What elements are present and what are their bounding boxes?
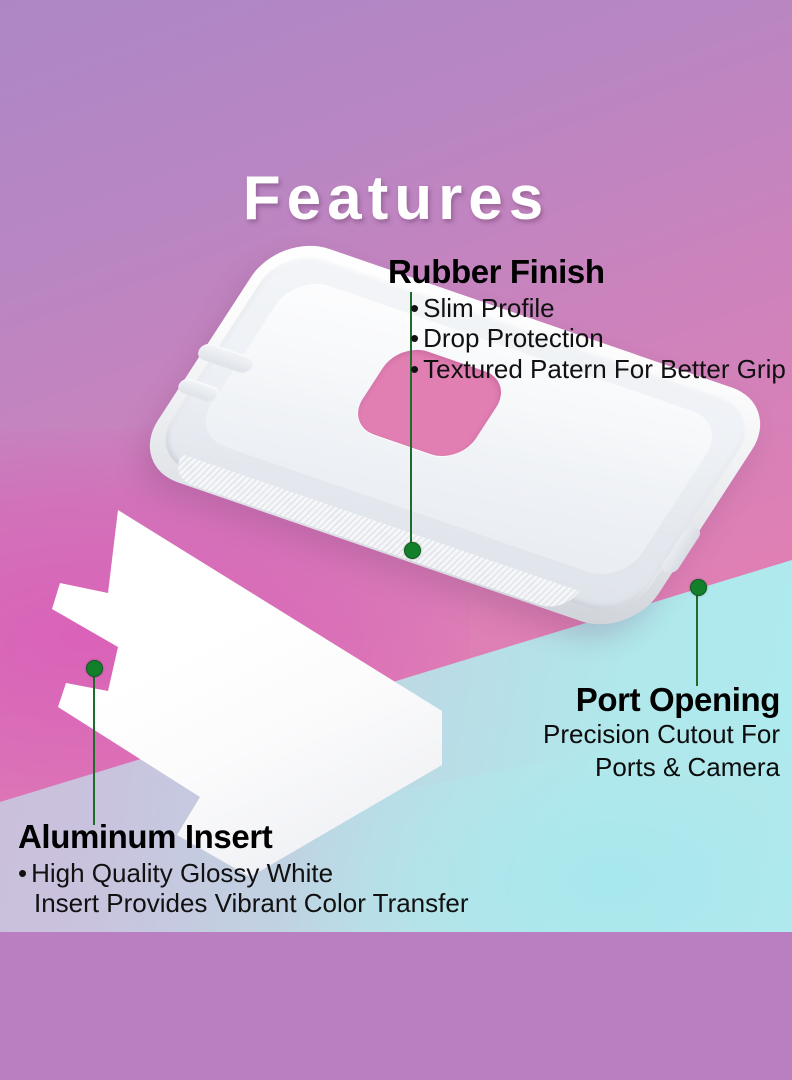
bullet-glyph: • bbox=[410, 293, 419, 323]
list-item-label: Drop Protection bbox=[423, 323, 604, 353]
bullet-glyph: • bbox=[18, 858, 27, 888]
callout-heading-port-opening: Port Opening bbox=[452, 683, 780, 716]
callout-list-rubber-finish: •Slim Profile •Drop Protection •Textured… bbox=[410, 293, 786, 384]
callout-heading-rubber-finish: Rubber Finish bbox=[388, 255, 786, 288]
page-title: Features bbox=[0, 163, 792, 234]
callout-line-1: Precision Cutout For bbox=[452, 719, 780, 749]
callout-list-aluminum-insert: •High Quality Glossy White Insert Provid… bbox=[18, 858, 468, 919]
list-item-label: High Quality Glossy White bbox=[31, 858, 333, 888]
features-infographic: Features Rubber Finish •Slim Profile •Dr… bbox=[0, 0, 792, 1080]
list-item: •Drop Protection bbox=[410, 323, 786, 353]
callout-rubber-finish: Rubber Finish •Slim Profile •Drop Protec… bbox=[388, 255, 786, 384]
list-item-label: Insert Provides Vibrant Color Transfer bbox=[34, 888, 468, 918]
callout-port-opening: Port Opening Precision Cutout For Ports … bbox=[452, 683, 780, 783]
leader-line-port-opening bbox=[696, 590, 698, 686]
bullet-glyph: • bbox=[410, 354, 419, 384]
callout-line-2: Ports & Camera bbox=[452, 752, 780, 782]
marker-dot-aluminum-insert bbox=[86, 660, 103, 677]
bottom-color-band bbox=[0, 932, 792, 1080]
list-item-label: Textured Patern For Better Grip bbox=[423, 354, 786, 384]
bullet-glyph: • bbox=[410, 323, 419, 353]
list-item: •Textured Patern For Better Grip bbox=[410, 354, 786, 384]
marker-dot-port-opening bbox=[690, 579, 707, 596]
list-item: •High Quality Glossy White bbox=[18, 858, 468, 888]
list-item: Insert Provides Vibrant Color Transfer bbox=[18, 888, 468, 918]
marker-dot-rubber-finish bbox=[404, 542, 421, 559]
callout-aluminum-insert: Aluminum Insert •High Quality Glossy Whi… bbox=[18, 820, 468, 919]
callout-heading-aluminum-insert: Aluminum Insert bbox=[18, 820, 468, 853]
leader-line-aluminum-insert bbox=[93, 673, 95, 825]
list-item-label: Slim Profile bbox=[423, 293, 554, 323]
list-item: •Slim Profile bbox=[410, 293, 786, 323]
